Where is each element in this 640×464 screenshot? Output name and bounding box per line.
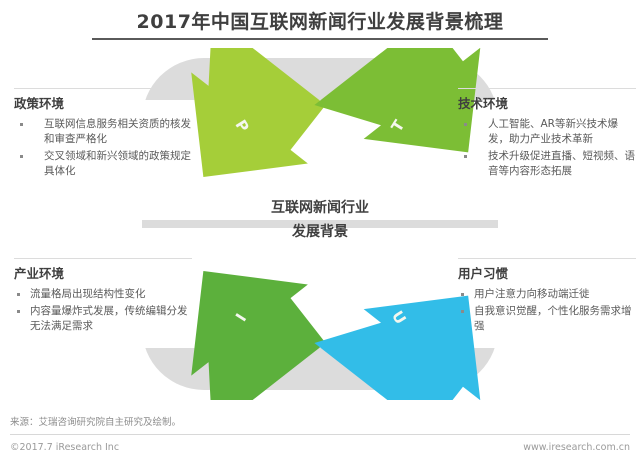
- bullet-dot-icon: [464, 155, 467, 158]
- source-line: 来源：艾瑞咨询研究院自主研究及绘制。: [10, 414, 181, 428]
- bullet-text: 交叉领域和新兴领域的政策规定具体化: [44, 150, 191, 177]
- bullet-list-technology: 人工智能、AR等新兴技术爆发，助力产业技术革新 技术升级促进直播、短视频、语音等…: [458, 117, 636, 179]
- bullet-item: 人工智能、AR等新兴技术爆发，助力产业技术革新: [458, 117, 636, 147]
- copyright-text: ©2017.7 iResearch Inc: [10, 442, 119, 453]
- bullet-list-policy: 互联网信息服务相关资质的核发和审查严格化 交叉领域和新兴领域的政策规定具体化: [14, 117, 192, 179]
- block-divider-policy: [14, 88, 192, 89]
- block-divider-technology: [458, 88, 636, 89]
- block-user: 用户习惯 用户注意力向移动端迁徙 自我意识觉醒，个性化服务需求增强: [458, 258, 636, 336]
- bullet-text: 用户注意力向移动端迁徙: [474, 288, 590, 300]
- center-label-line2: 发展背景: [220, 220, 420, 244]
- block-industry: 产业环境 流量格局出现结构性变化 内容量爆炸式发展，传统编辑分发无法满足需求: [14, 258, 192, 336]
- bullet-item: 交叉领域和新兴领域的政策规定具体化: [14, 149, 192, 179]
- page-title: 2017年中国互联网新闻行业发展背景梳理: [0, 8, 640, 36]
- bullet-item: 内容量爆炸式发展，传统编辑分发无法满足需求: [14, 304, 192, 334]
- bullet-item: 互联网信息服务相关资质的核发和审查严格化: [14, 117, 192, 147]
- bullet-item: 自我意识觉醒，个性化服务需求增强: [458, 304, 636, 334]
- bullet-dot-icon: [17, 293, 20, 296]
- bullet-text: 技术升级促进直播、短视频、语音等内容形态拓展: [488, 150, 635, 177]
- bullet-dot-icon: [461, 293, 464, 296]
- block-heading-industry: 产业环境: [14, 266, 192, 282]
- bullet-dot-icon: [20, 155, 23, 158]
- bullet-item: 技术升级促进直播、短视频、语音等内容形态拓展: [458, 149, 636, 179]
- block-policy: 政策环境 互联网信息服务相关资质的核发和审查严格化 交叉领域和新兴领域的政策规定…: [14, 88, 192, 181]
- bullet-text: 自我意识觉醒，个性化服务需求增强: [474, 305, 632, 332]
- bullet-list-user: 用户注意力向移动端迁徙 自我意识觉醒，个性化服务需求增强: [458, 287, 636, 334]
- title-block: 2017年中国互联网新闻行业发展背景梳理: [0, 8, 640, 36]
- center-label: 互联网新闻行业 发展背景: [220, 196, 420, 244]
- bullet-list-industry: 流量格局出现结构性变化 内容量爆炸式发展，传统编辑分发无法满足需求: [14, 287, 192, 334]
- bullet-item: 流量格局出现结构性变化: [14, 287, 192, 302]
- bullet-text: 人工智能、AR等新兴技术爆发，助力产业技术革新: [488, 118, 618, 145]
- bullet-dot-icon: [17, 310, 20, 313]
- block-technology: 技术环境 人工智能、AR等新兴技术爆发，助力产业技术革新 技术升级促进直播、短视…: [458, 88, 636, 181]
- block-divider-industry: [14, 258, 192, 259]
- bullet-dot-icon: [464, 123, 467, 126]
- bullet-dot-icon: [20, 123, 23, 126]
- block-divider-user: [458, 258, 636, 259]
- bullet-text: 流量格局出现结构性变化: [30, 288, 146, 300]
- bullet-text: 互联网信息服务相关资质的核发和审查严格化: [44, 118, 191, 145]
- title-underline-rule: [92, 38, 548, 40]
- block-heading-user: 用户习惯: [458, 266, 636, 282]
- footer-divider: [10, 434, 630, 435]
- website-link[interactable]: www.iresearch.com.cn: [523, 442, 630, 453]
- bullet-dot-icon: [461, 310, 464, 313]
- block-heading-policy: 政策环境: [14, 96, 192, 112]
- center-label-line1: 互联网新闻行业: [220, 196, 420, 220]
- block-heading-technology: 技术环境: [458, 96, 636, 112]
- bullet-text: 内容量爆炸式发展，传统编辑分发无法满足需求: [30, 305, 188, 332]
- bullet-item: 用户注意力向移动端迁徙: [458, 287, 636, 302]
